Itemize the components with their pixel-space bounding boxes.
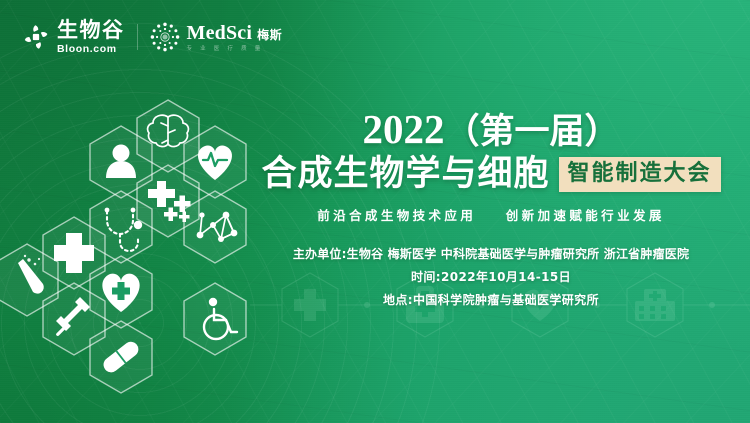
bioon-logo[interactable]: 生物谷 Bloon.com: [22, 20, 125, 55]
bioon-pinwheel-icon: [22, 23, 50, 51]
bioon-en-name: Bloon.com: [57, 44, 125, 55]
main-title-line: 合成生物学与细胞 智能制造大会: [248, 155, 734, 194]
conference-banner: 生物谷 Bloon.com: [0, 0, 750, 423]
bioon-cn-name: 生物谷: [57, 20, 125, 41]
logo-divider: [137, 24, 138, 50]
meta-block: 主办单位:生物谷 梅斯医学 中科院基础医学与肿瘤研究所 浙江省肿瘤医院 时间:2…: [248, 243, 734, 313]
medsci-cn-name: 梅斯: [257, 29, 282, 41]
medsci-logo[interactable]: MedSci 梅斯 专 业 医 疗 质 量: [150, 22, 283, 52]
main-title-text: 合成生物学与细胞: [261, 155, 549, 194]
subtitle-left: 前沿合成生物技术应用: [317, 208, 476, 223]
medsci-radial-burst-icon: [150, 22, 180, 52]
medsci-wordmark: MedSci 梅斯 专 业 医 疗 质 量: [187, 23, 283, 53]
edition-text: （第一届）: [444, 112, 619, 152]
meta-time: 时间:2022年10月14-15日: [248, 266, 734, 289]
meta-place: 地点:中国科学院肿瘤与基础医学研究所: [248, 289, 734, 312]
subtitle-line: 前沿合成生物技术应用 创新加速赋能行业发展: [248, 205, 734, 224]
year-line: 2022（第一届）: [248, 108, 734, 151]
headline-block: 2022（第一届） 合成生物学与细胞 智能制造大会 前沿合成生物技术应用 创新加…: [248, 108, 734, 313]
subtitle-right: 创新加速赋能行业发展: [506, 208, 665, 223]
year-text: 2022: [362, 106, 444, 152]
medsci-tagline: 专 业 医 疗 质 量: [187, 47, 283, 53]
meta-host: 主办单位:生物谷 梅斯医学 中科院基础医学与肿瘤研究所 浙江省肿瘤医院: [248, 243, 734, 266]
hex-wheelchair: [184, 283, 246, 355]
bioon-wordmark: 生物谷 Bloon.com: [57, 20, 125, 55]
chip-badge: 智能制造大会: [559, 157, 721, 192]
logo-bar: 生物谷 Bloon.com: [22, 20, 282, 55]
hexagon-icon-cluster: [0, 96, 266, 423]
medsci-en-name: MedSci: [187, 23, 253, 43]
